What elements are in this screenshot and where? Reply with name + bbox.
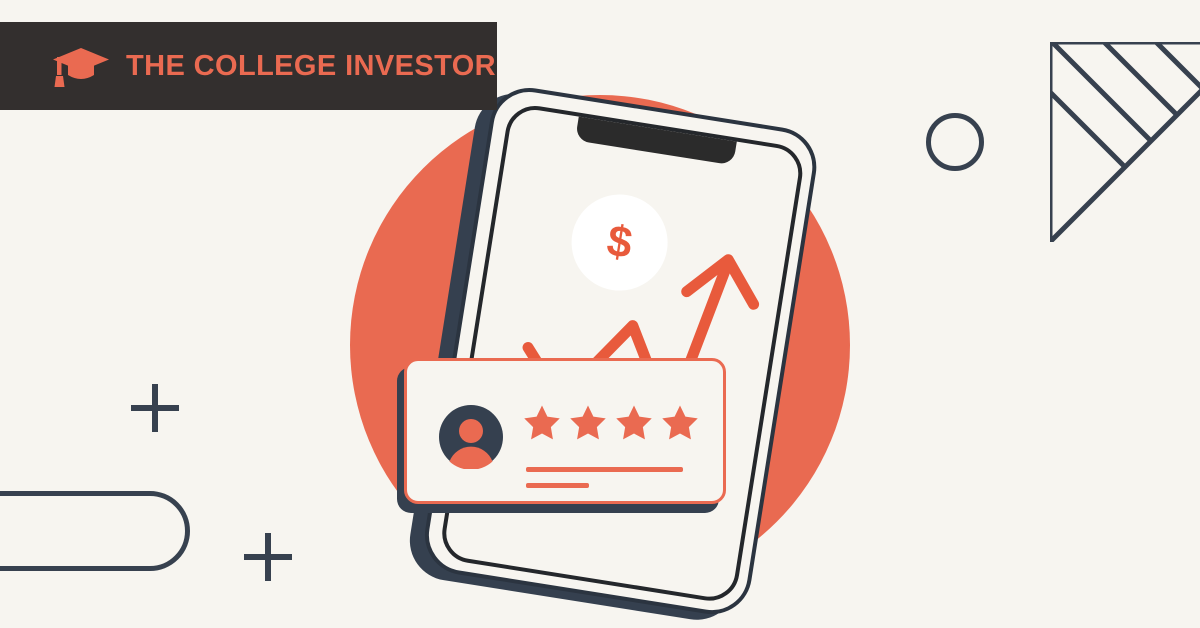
brand-title: THE COLLEGE INVESTOR bbox=[126, 52, 496, 81]
brand-lockup: THE COLLEGE INVESTOR bbox=[52, 44, 496, 89]
star-icon bbox=[615, 403, 653, 441]
review-text-line-short bbox=[526, 483, 589, 488]
star-icon bbox=[661, 403, 699, 441]
review-card bbox=[404, 358, 726, 504]
phone-notch bbox=[575, 115, 737, 166]
user-avatar-icon bbox=[439, 405, 503, 469]
star-icon bbox=[569, 403, 607, 441]
review-text-line-long bbox=[526, 467, 683, 472]
smartphone-illustration: $ bbox=[418, 82, 822, 627]
graduation-cap-icon bbox=[52, 44, 110, 89]
brand-bar: THE COLLEGE INVESTOR bbox=[0, 22, 497, 110]
star-icon bbox=[523, 403, 561, 441]
star-rating bbox=[523, 403, 699, 441]
review-card-body bbox=[404, 358, 726, 504]
phone-screen: $ bbox=[438, 102, 807, 605]
hero-graphic-canvas: $ bbox=[0, 0, 1200, 628]
